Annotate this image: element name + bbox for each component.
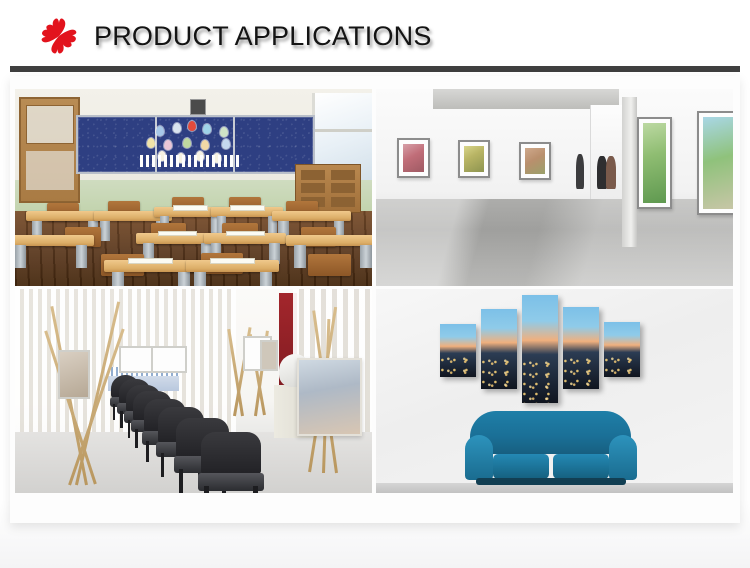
photo-canvas-wall-art[interactable]: [376, 289, 733, 493]
header-divider: [10, 66, 740, 72]
header-content: PRODUCT APPLICATIONS: [38, 14, 432, 58]
photo-art-studio[interactable]: [15, 289, 372, 493]
applications-photo-grid: [15, 89, 733, 499]
page-header: PRODUCT APPLICATIONS: [0, 0, 750, 72]
page-title: PRODUCT APPLICATIONS: [94, 21, 432, 52]
flower-icon: [38, 15, 80, 57]
photo-classroom[interactable]: [15, 89, 372, 286]
applications-panel: [10, 76, 740, 523]
product-applications-page: PRODUCT APPLICATIONS: [0, 0, 750, 568]
photo-art-gallery[interactable]: [376, 89, 733, 286]
